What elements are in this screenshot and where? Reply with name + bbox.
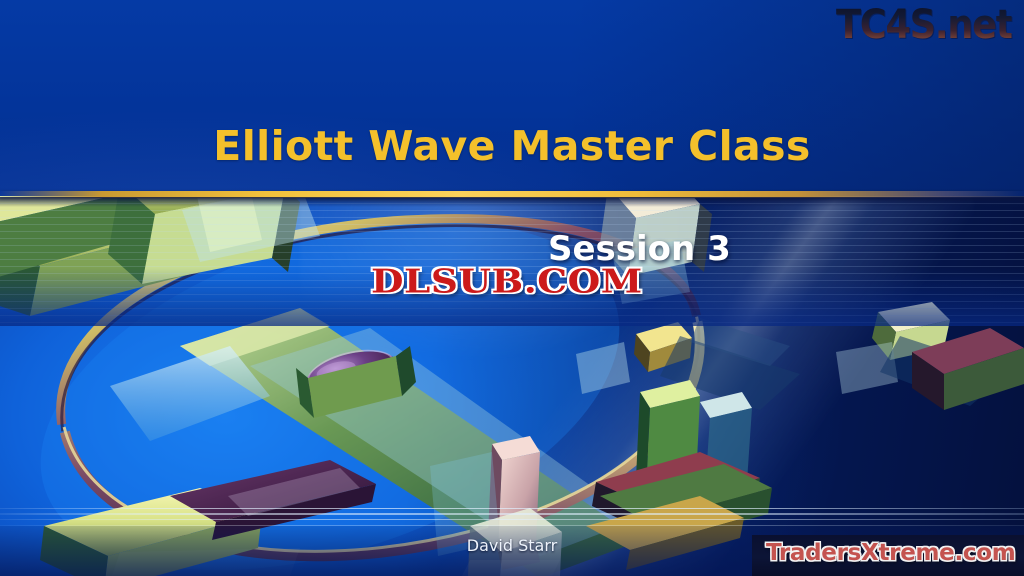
page-title: Elliott Wave Master Class — [0, 122, 1024, 170]
lower-graphic-background — [0, 196, 1024, 576]
presentation-slide: Elliott Wave Master Class Session 3 Davi… — [0, 0, 1024, 576]
watermark-dlsub: DLSUB.COM — [371, 262, 643, 301]
gold-divider-shadow — [0, 197, 1024, 207]
watermark-tc4s: TC4S.net — [836, 2, 1012, 48]
watermark-tradersxtreme: TradersXtreme.com — [766, 540, 1015, 566]
scanline-fade-overlay — [0, 196, 1024, 326]
